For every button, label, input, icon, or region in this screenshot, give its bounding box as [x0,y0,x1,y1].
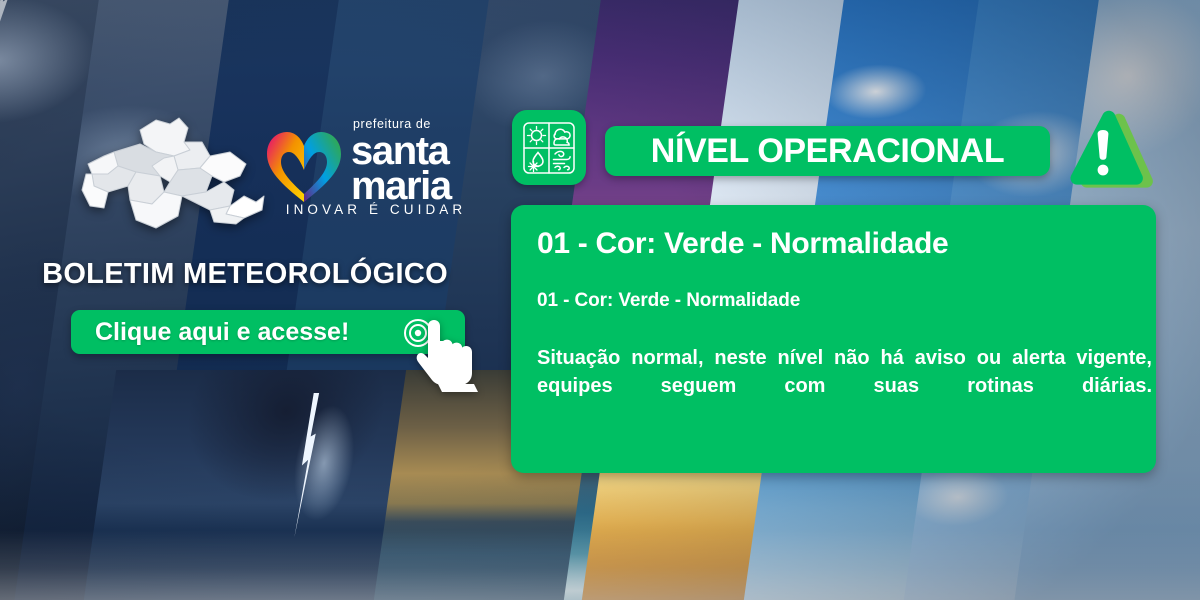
alert-card-body: Situação normal, neste nível não há avis… [537,344,1152,429]
sun-icon [528,126,546,144]
logo-tagline: INOVAR É CUIDAR [265,202,487,217]
heart-logo-icon [263,126,345,206]
rain-snow-icon [529,152,544,171]
alert-card: 01 - Cor: Verde - Normalidade 01 - Cor: … [511,205,1156,473]
weather-grid-icon [512,110,586,185]
cta-button-label: Clique aqui e acesse! [95,318,349,347]
warning-triangle-icon [1062,108,1156,193]
pointing-hand-cursor-icon [416,318,482,394]
alert-card-subtitle: 01 - Cor: Verde - Normalidade [537,290,1128,312]
santa-maria-map-icon [78,112,268,237]
level-badge: NÍVEL OPERACIONAL [605,126,1050,176]
alert-card-title: 01 - Cor: Verde - Normalidade [537,227,1128,260]
wind-icon [554,151,571,169]
left-column: prefeitura de santa maria INOVAR É CUIDA… [0,0,510,600]
weather-bulletin-banner: prefeitura de santa maria INOVAR É CUIDA… [0,0,1200,600]
clouds-icon [554,129,570,145]
cta-button[interactable]: Clique aqui e acesse! [71,310,465,354]
logo-wordmark: prefeitura de santa maria [351,118,491,204]
level-badge-label: NÍVEL OPERACIONAL [651,132,1004,171]
page-title: BOLETIM METEOROLÓGICO [0,258,490,291]
logo-name-maria: maria [351,169,491,204]
